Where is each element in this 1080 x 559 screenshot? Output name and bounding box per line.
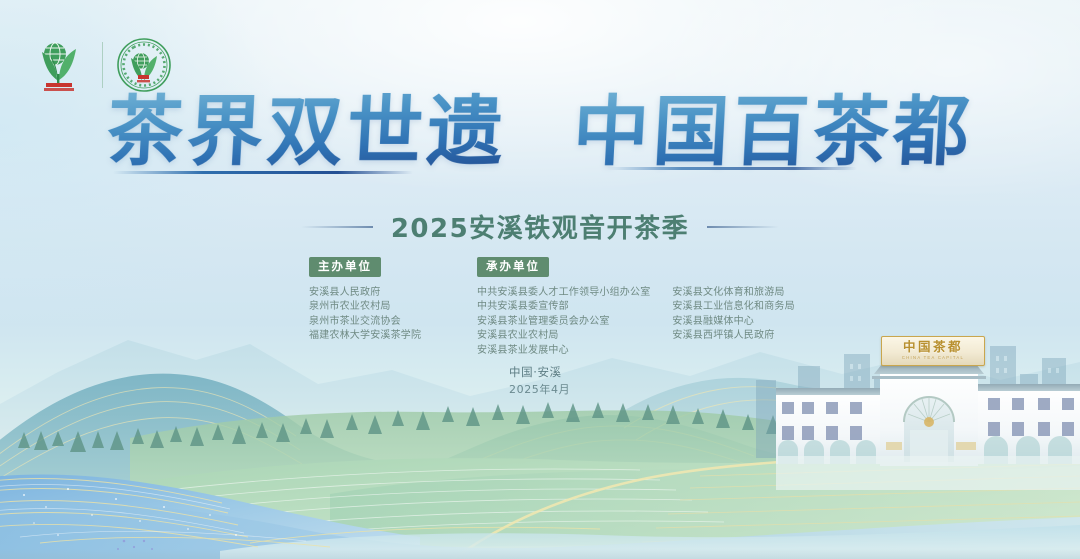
cohost-organizer-list-right: 安溪县文化体育和旅游局 安溪县工业信息化和商务局 安溪县融媒体中心 安溪县西坪镇… [672, 286, 794, 359]
list-item: 安溪县人民政府 [309, 286, 479, 301]
circular-globe-leaf-seal-icon [116, 36, 172, 94]
host-organizer-list: 安溪县人民政府 泉州市农业农村局 泉州市茶业交流协会 福建农林大学安溪茶学院 [309, 286, 479, 344]
title-right: 中国百茶都 [571, 92, 975, 172]
title-left: 茶界双世遗 [105, 92, 509, 172]
list-item: 安溪县工业信息化和商务局 [672, 300, 794, 315]
subtitle-row: 2025安溪铁观音开茶季 [0, 208, 1080, 245]
logo-anxi-tieguanyin [33, 36, 89, 94]
logo-group [33, 36, 172, 94]
list-item: 安溪县农业农村局 [477, 329, 650, 344]
date-text: 2025年4月 [509, 381, 570, 398]
subtitle-text: 2025安溪铁观音开茶季 [391, 208, 689, 245]
list-item: 中共安溪县委宣传部 [477, 300, 650, 315]
list-item: 福建农林大学安溪茶学院 [309, 329, 479, 344]
list-item: 泉州市农业农村局 [309, 300, 479, 315]
subtitle-rule-right [707, 226, 779, 228]
list-item: 安溪县茶业发展中心 [477, 344, 650, 359]
list-item: 中共安溪县委人才工作领导小组办公室 [477, 286, 650, 301]
main-title: 茶界双世遗 中国百茶都 [0, 92, 1080, 172]
list-item: 泉州市茶业交流协会 [309, 315, 479, 330]
list-item: 安溪县融媒体中心 [672, 315, 794, 330]
list-item: 安溪县西坪镇人民政府 [672, 329, 794, 344]
subtitle-rule-left [301, 226, 373, 228]
cohost-organizer-list-left: 中共安溪县委人才工作领导小组办公室 中共安溪县委宣传部 安溪县茶业管理委员会办公… [477, 286, 650, 359]
bottom-edge-fade [0, 549, 1080, 559]
list-item: 安溪县文化体育和旅游局 [672, 286, 794, 301]
cohost-badge: 承办单位 [477, 257, 549, 277]
gate-sign-english: CHINA TEA CAPITAL [902, 356, 964, 360]
list-item: 安溪县茶业管理委员会办公室 [477, 315, 650, 330]
globe-leaf-emblem-icon [33, 36, 89, 94]
place-text: 中国·安溪 [509, 364, 570, 381]
organizers-host-block: 主办单位 安溪县人民政府 泉州市农业农村局 泉州市茶业交流协会 福建农林大学安溪… [309, 257, 479, 344]
organizers-cohost-block: 承办单位 中共安溪县委人才工作领导小组办公室 中共安溪县委宣传部 安溪县茶业管理… [477, 257, 795, 359]
poster-canvas: 中国茶都 CHINA TEA CAPITAL [0, 0, 1080, 559]
title-right-underline [607, 167, 857, 169]
gate-sign-board: 中国茶都 CHINA TEA CAPITAL [881, 336, 985, 366]
title-left-underline [113, 171, 413, 174]
host-badge: 主办单位 [309, 257, 381, 277]
logo-divider [102, 42, 103, 88]
logo-giahs-seal [116, 36, 172, 94]
footer-place-date: 中国·安溪 2025年4月 [509, 364, 570, 398]
gate-sign-chinese: 中国茶都 [903, 341, 963, 354]
